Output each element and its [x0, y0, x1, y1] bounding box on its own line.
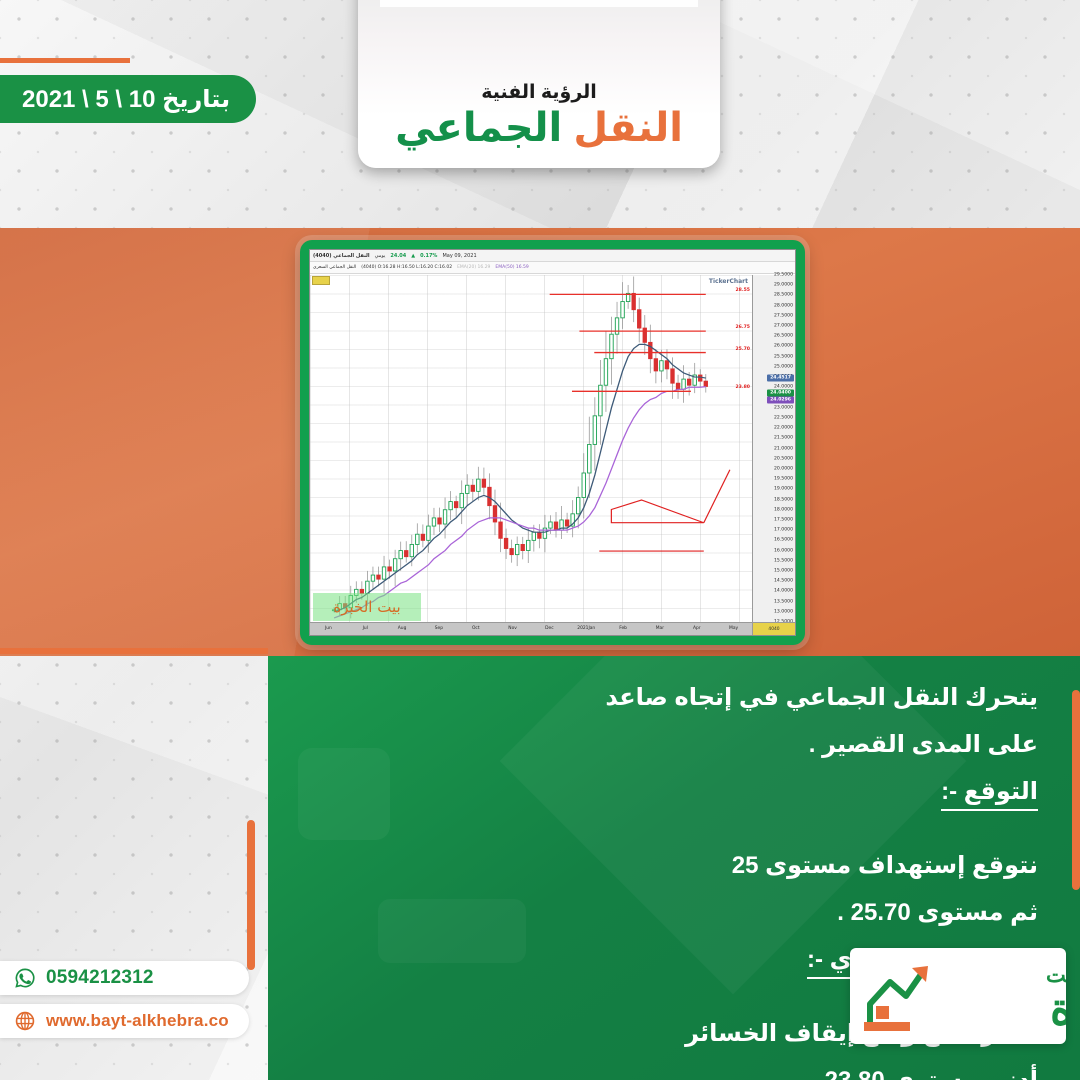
chart-watermark-text: بيت الخبرة [333, 598, 400, 616]
price-tick: 16.0000 [774, 548, 793, 553]
price-tick: 29.5000 [774, 273, 793, 278]
title-word-green: الجماعي [395, 106, 562, 150]
chart-series-name: النقل الجماعي السعري [313, 265, 356, 270]
time-tick: Mar [656, 626, 664, 631]
decision-line-2: أدنى مستوى 23.80 . [310, 1069, 1038, 1080]
price-tick: 14.5000 [774, 579, 793, 584]
forecast-heading-wrap: التوقع -: [310, 780, 1038, 831]
pattern-overlay-group [599, 470, 730, 551]
chart-header-row: النقل الجماعي (4040) يومي 24.04 ▲ 0.17% … [310, 250, 795, 262]
time-tick: Apr [693, 626, 701, 631]
left-orange-rule [0, 648, 268, 654]
time-tick: Dec [545, 626, 554, 631]
chart-watermark: بيت الخبرة [313, 593, 421, 621]
price-tick: 27.0000 [774, 324, 793, 329]
forecast-heading: التوقع -: [941, 780, 1038, 811]
chart-plot-area[interactable]: 28.5526.7525.7023.80 [310, 275, 752, 622]
price-tick: 26.0000 [774, 344, 793, 349]
chart-symbol: النقل الجماعي (4040) [313, 253, 370, 259]
price-tick: 20.5000 [774, 456, 793, 461]
chart-up-arrow-icon: ▲ [411, 253, 415, 259]
resistance-label-2855: 28.55 [735, 288, 750, 293]
price-tick: 19.0000 [774, 487, 793, 492]
candlestick-group [332, 277, 707, 619]
price-tick: 19.5000 [774, 477, 793, 482]
time-tick: Jun [325, 626, 332, 631]
chart-period: يومي [375, 253, 386, 259]
globe-icon [14, 1010, 36, 1032]
forecast-line-1: نتوقع إستهداف مستوى 25 [310, 854, 1038, 878]
price-tick: 28.0000 [774, 303, 793, 308]
analysis-line-1: يتحرك النقل الجماعي في إتجاه صاعد [310, 686, 1038, 710]
phone-chip[interactable]: 0594212312 [0, 961, 249, 995]
stoploss-label-2380: 23.80 [735, 385, 750, 390]
whatsapp-icon [14, 967, 36, 989]
price-tick: 27.5000 [774, 313, 793, 318]
title-card: الرؤية الفنية النقل الجماعي [358, 0, 720, 168]
chart-date: May 09, 2021 [442, 253, 476, 259]
price-tick: 17.0000 [774, 528, 793, 533]
price-tick: 23.0000 [774, 405, 793, 410]
price-tick: 15.0000 [774, 568, 793, 573]
tickerchart-brand: TickerChart [709, 278, 748, 285]
resistance-label-2675: 26.75 [735, 325, 750, 330]
chart-toolbar-button[interactable] [312, 276, 330, 285]
ema50-line [334, 387, 706, 618]
time-tick: Nov [508, 626, 517, 631]
ema-fast-price-tag: 24.4517 [767, 375, 794, 382]
contact-group: 0594212312 www.bayt-alkhebra.co [0, 961, 249, 1038]
time-tick: Jul [363, 626, 368, 631]
price-tick: 22.5000 [774, 415, 793, 420]
price-tick: 17.5000 [774, 517, 793, 522]
date-accent-rule [0, 58, 130, 63]
brand-logo-card[interactable]: بيت الخبرة [850, 948, 1066, 1044]
price-tick: 21.5000 [774, 436, 793, 441]
forecast-line-2: ثم مستوى 25.70 . [310, 901, 1038, 925]
time-tick: May [729, 626, 738, 631]
time-tick: Sep [435, 626, 443, 631]
price-tick: 18.5000 [774, 497, 793, 502]
chart-ohlc: (4040) O:16.28 H:16.50 L:16.20 C:16.02 [361, 265, 452, 270]
chart-time-axis: JunJulAugSepOctNovDec2021JanFebMarAprMay [310, 622, 752, 635]
website-chip[interactable]: www.bayt-alkhebra.co [0, 1004, 249, 1038]
chart-change-pct: 0.17% [420, 253, 437, 259]
poster-root: بتاريخ 10 \ 5 \ 2021 الرؤية الفنية النقل… [0, 0, 1080, 1080]
price-tick: 14.0000 [774, 589, 793, 594]
price-tick: 25.0000 [774, 364, 793, 369]
chart-ema20-readout: EMA(20) 16.29 [457, 265, 490, 270]
chart-corner-tag: 4040 [752, 622, 795, 635]
price-tick: 25.5000 [774, 354, 793, 359]
price-tick: 28.5000 [774, 293, 793, 298]
chart-svg [310, 275, 752, 622]
phone-number: 0594212312 [46, 967, 154, 989]
price-tick: 13.0000 [774, 609, 793, 614]
target-label-2570: 25.70 [735, 347, 750, 352]
chart-price-axis: 29.500029.000028.500028.000027.500027.00… [752, 275, 795, 622]
level-lines-group [550, 294, 706, 391]
chart-frame: النقل الجماعي (4040) يومي 24.04 ▲ 0.17% … [300, 240, 805, 645]
time-tick: Aug [398, 626, 407, 631]
time-tick: Feb [619, 626, 627, 631]
price-tick: 18.0000 [774, 507, 793, 512]
analysis-line-2: على المدى القصير . [310, 733, 1038, 757]
ema-slow-price-tag: 24.0296 [767, 396, 794, 403]
chart-last-price: 24.04 [390, 253, 406, 259]
price-tick: 26.5000 [774, 334, 793, 339]
chart-window: النقل الجماعي (4040) يومي 24.04 ▲ 0.17% … [309, 249, 796, 636]
title-kicker: الرؤية الفنية [481, 81, 597, 104]
left-accent-bar [247, 820, 255, 970]
price-tick: 29.0000 [774, 283, 793, 288]
brand-logo: بيت الخبرة [850, 948, 1066, 1044]
logo-word-top: بيت [1046, 964, 1066, 987]
price-tick: 13.5000 [774, 599, 793, 604]
date-badge: بتاريخ 10 \ 5 \ 2021 [0, 75, 256, 123]
website-url: www.bayt-alkhebra.co [46, 1011, 229, 1031]
price-tick: 22.0000 [774, 426, 793, 431]
time-tick: 2021Jan [577, 626, 595, 631]
chart-ema50-readout: EMA(50) 16.59 [495, 265, 528, 270]
price-tick: 20.0000 [774, 466, 793, 471]
time-tick: Oct [472, 626, 480, 631]
page-title: النقل الجماعي [395, 107, 683, 150]
title-word-orange: النقل [573, 106, 683, 150]
chart-subheader-row: النقل الجماعي السعري (4040) O:16.28 H:16… [310, 262, 795, 274]
price-tick: 16.5000 [774, 538, 793, 543]
price-tick: 21.0000 [774, 446, 793, 451]
logo-word-main: الخبرة [1050, 985, 1066, 1036]
price-tick: 15.5000 [774, 558, 793, 563]
